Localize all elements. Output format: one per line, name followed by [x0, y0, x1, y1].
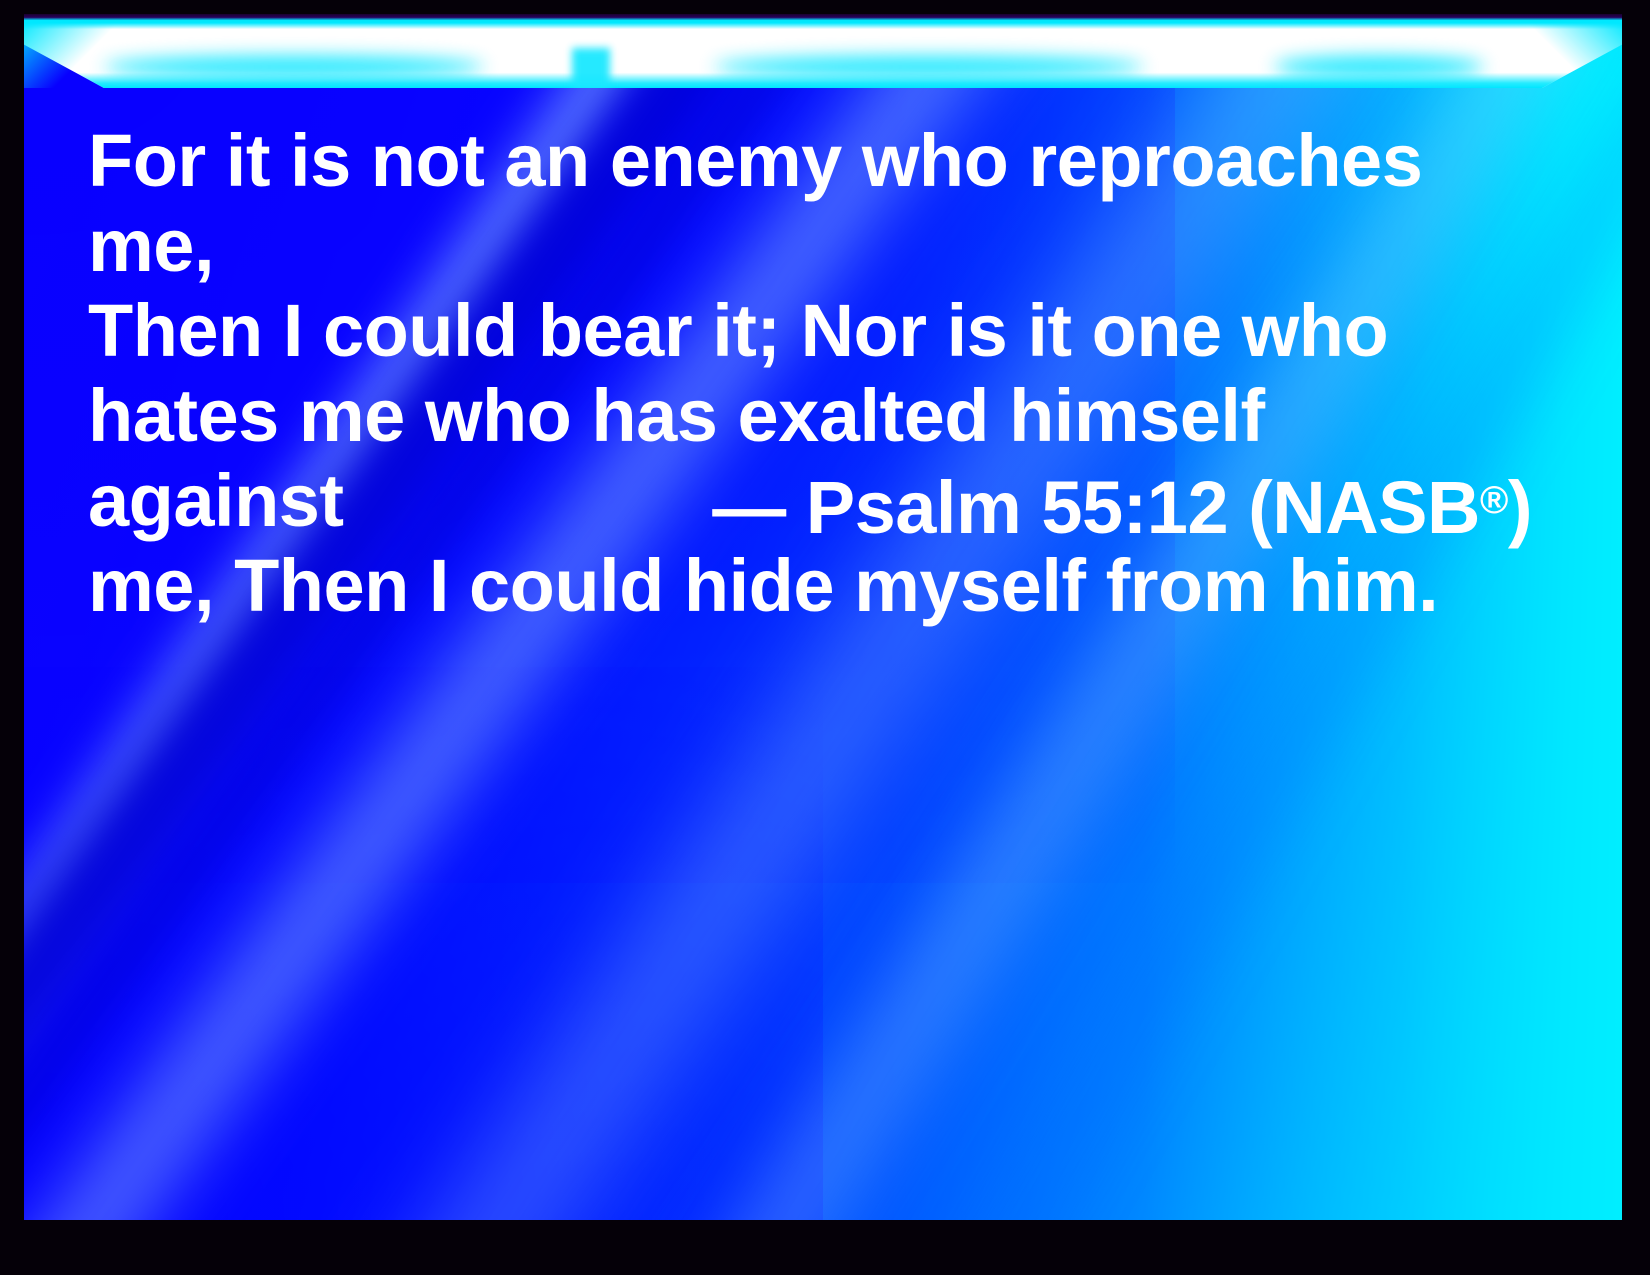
banner-notch — [572, 48, 610, 88]
banner-wedge-left — [24, 18, 120, 88]
banner-wedge-right — [1526, 18, 1622, 88]
background-gradient-bottomleft — [24, 667, 823, 1220]
gradient-artwork-panel — [24, 18, 1622, 1220]
verse-slide: For it is not an enemy who reproaches me… — [0, 0, 1650, 1275]
banner-glow-center — [714, 56, 1144, 78]
top-banner — [24, 18, 1622, 88]
banner-glow-left — [104, 56, 484, 78]
banner-glow-right — [1274, 56, 1484, 78]
banner-top-rule — [24, 14, 1622, 20]
